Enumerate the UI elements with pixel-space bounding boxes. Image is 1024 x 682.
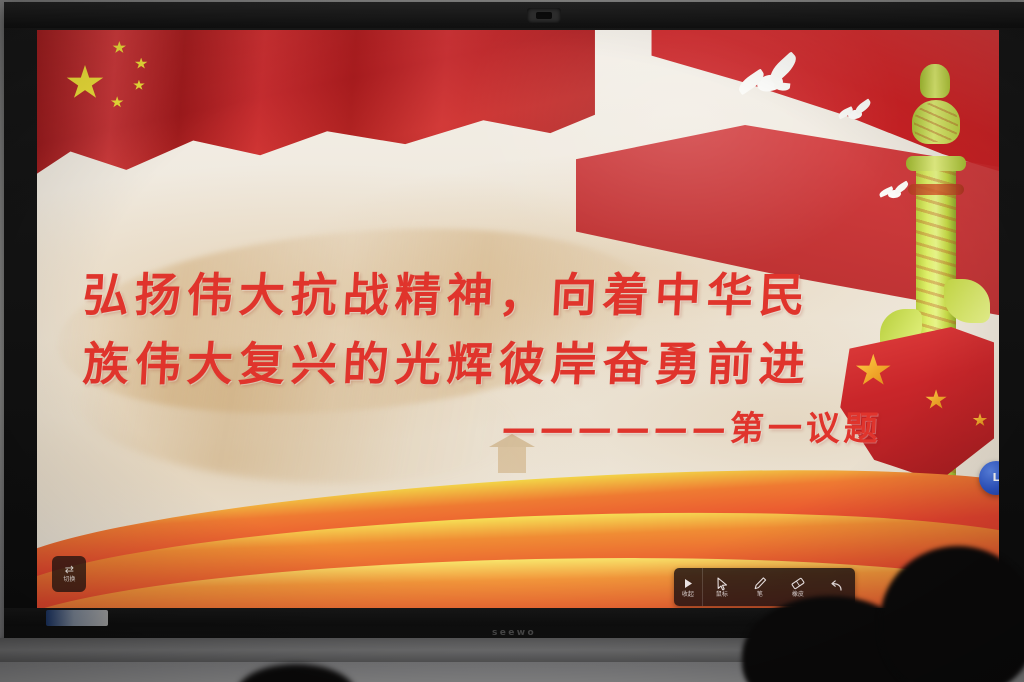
display-screen[interactable]: 弘扬伟大抗战精神，向着中华民 族伟大复兴的光辉彼岸奋勇前进 ——————第一议题… [37,30,999,624]
slide-subtitle: ——————第一议题 [500,401,883,450]
collapse-arrow-icon [680,576,696,591]
panel-top-bezel [4,2,1024,28]
slide-text-block: 弘扬伟大抗战精神，向着中华民 族伟大复兴的光辉彼岸奋勇前进 ——————第一议题 [37,30,999,624]
camera-sensor-module [527,8,561,23]
toolbar-collapse-label: 收起 [682,592,694,598]
toolbar-cursor-button[interactable]: 鼠标 [703,568,741,606]
screenshot-root: 弘扬伟大抗战精神，向着中华民 族伟大复兴的光辉彼岸奋勇前进 ——————第一议题… [0,0,1024,682]
cursor-icon [714,576,730,591]
panel-label-sticker [46,610,108,626]
slide-title-line-1: 弘扬伟大抗战精神，向着中华民 [81,259,812,325]
toolbar-eraser-label: 橡皮 [792,592,804,598]
eraser-icon [790,576,806,591]
toolbar-pen-label: 笔 [757,592,763,598]
toolbar-collapse-button[interactable]: 收起 [674,568,703,606]
undo-icon [828,579,844,594]
toolbar-cursor-label: 鼠标 [716,592,728,598]
source-switch-label: 切换 [63,577,75,583]
switch-icon: ⇄ [65,564,74,575]
source-switch-button[interactable]: ⇄ 切换 [52,556,86,592]
toolbar-pen-button[interactable]: 笔 [741,568,779,606]
pen-icon [752,576,768,591]
slide-title-line-2: 族伟大复兴的光辉彼岸奋勇前进 [81,328,812,394]
interactive-flat-panel: 弘扬伟大抗战精神，向着中华民 族伟大复兴的光辉彼岸奋勇前进 ——————第一议题… [4,2,1024,650]
